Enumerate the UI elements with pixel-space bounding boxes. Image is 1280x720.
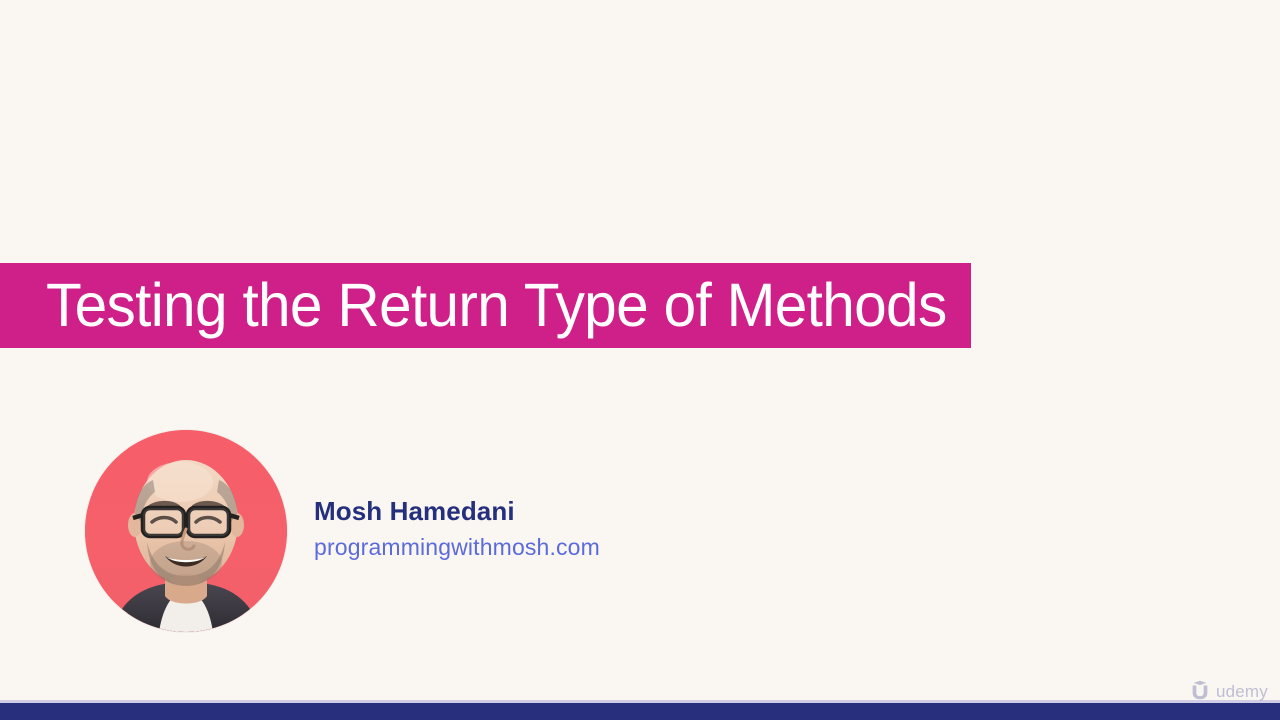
video-slide: Testing the Return Type of Methods: [0, 0, 1280, 720]
udemy-watermark-label: udemy: [1216, 683, 1268, 700]
footer-bar: [0, 703, 1280, 720]
presenter-photo-icon: [85, 430, 287, 632]
presenter-website: programmingwithmosh.com: [314, 533, 600, 563]
presenter-name: Mosh Hamedani: [314, 495, 600, 528]
udemy-logo-icon: [1189, 680, 1211, 702]
presenter-info: Mosh Hamedani programmingwithmosh.com: [314, 495, 600, 567]
title-banner: Testing the Return Type of Methods: [0, 263, 971, 348]
page-title: Testing the Return Type of Methods: [46, 275, 947, 336]
presenter-block: Mosh Hamedani programmingwithmosh.com: [85, 430, 600, 632]
avatar: [85, 430, 287, 632]
